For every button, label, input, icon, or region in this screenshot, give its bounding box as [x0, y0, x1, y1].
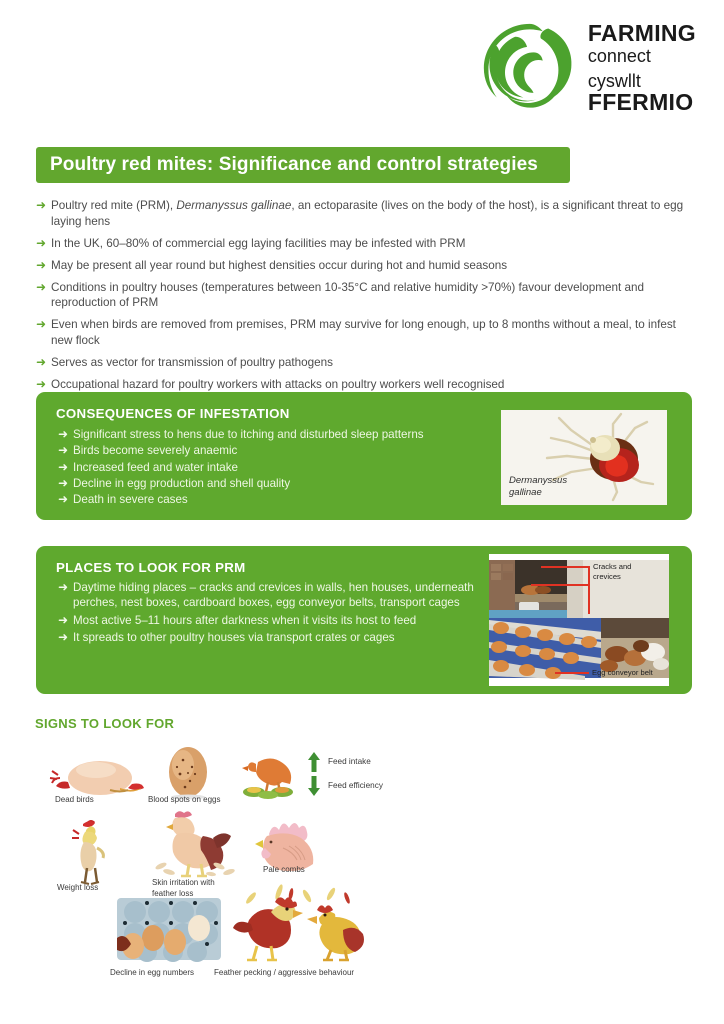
list-item-label: Birds become severely anaemic	[73, 443, 237, 458]
annotation-cracks-line1: Cracks and	[593, 562, 631, 572]
list-item-label: Occupational hazard for poultry workers …	[51, 377, 692, 393]
annotation-label-egg-conveyor-belt: Egg conveyor belt	[592, 668, 653, 678]
intro-bullet-list: ➜ Poultry red mite (PRM), Dermanyssus ga…	[36, 198, 692, 399]
brand-line-connect: connect	[588, 47, 696, 65]
list-item: ➜ Serves as vector for transmission of p…	[36, 355, 692, 371]
sign-caption-decline-egg-numbers: Decline in egg numbers	[110, 968, 194, 979]
list-item: ➜ It spreads to other poultry houses via…	[58, 630, 498, 645]
poster-page: FARMING connect cyswllt FFERMIO Poultry …	[0, 0, 724, 1024]
brand-wordmark: FARMING connect cyswllt FFERMIO	[588, 22, 696, 114]
list-item-label: Poultry red mite (PRM), Dermanyssus gall…	[51, 198, 692, 229]
list-item-label: In the UK, 60–80% of commercial egg layi…	[51, 236, 692, 252]
arrow-bullet-icon: ➜	[36, 280, 51, 296]
brand-header: FARMING connect cyswllt FFERMIO	[482, 22, 696, 114]
list-item-label: Daytime hiding places – cracks and crevi…	[73, 580, 498, 611]
sign-caption-blood-spots: Blood spots on eggs	[148, 795, 221, 806]
signs-section-heading: SIGNS TO LOOK FOR	[35, 716, 174, 731]
farming-connect-swirl-icon	[482, 22, 574, 114]
mite-caption-line1: Dermanyssus	[509, 475, 567, 487]
list-item: ➜ May be present all year round but high…	[36, 258, 692, 274]
arrow-bullet-icon: ➜	[36, 198, 51, 214]
list-item: ➜ Death in severe cases	[58, 492, 488, 507]
list-item: ➜ Increased feed and water intake	[58, 460, 488, 475]
arrow-bullet-icon: ➜	[36, 258, 51, 274]
list-item: ➜ Poultry red mite (PRM), Dermanyssus ga…	[36, 198, 692, 229]
arrow-bullet-icon: ➜	[58, 630, 73, 645]
signs-icon-grid: Dead birds Blood spots on eggs	[35, 740, 455, 990]
arrow-down-icon	[307, 776, 321, 796]
arrow-bullet-icon: ➜	[58, 460, 73, 475]
arrow-bullet-icon: ➜	[58, 427, 73, 442]
feed-efficiency-label: Feed efficiency	[328, 781, 383, 790]
list-item: ➜ Even when birds are removed from premi…	[36, 317, 692, 348]
list-item: ➜ Occupational hazard for poultry worker…	[36, 377, 692, 393]
annotation-line-belt	[555, 672, 589, 674]
arrow-up-icon	[307, 752, 321, 772]
list-item-label: Decline in egg production and shell qual…	[73, 476, 290, 491]
list-item-label: Even when birds are removed from premise…	[51, 317, 692, 348]
list-item-label: May be present all year round but highes…	[51, 258, 692, 274]
sign-caption-feather-loss: Skin irritation with feather loss	[152, 878, 215, 899]
arrow-bullet-icon: ➜	[58, 613, 73, 628]
arrow-bullet-icon: ➜	[36, 317, 51, 333]
sign-caption-pale-combs: Pale combs	[263, 865, 305, 876]
list-item: ➜ In the UK, 60–80% of commercial egg la…	[36, 236, 692, 252]
egg-blood-spots-icon	[159, 740, 217, 798]
list-item: ➜ Conditions in poultry houses (temperat…	[36, 280, 692, 311]
sign-caption-feather-pecking: Feather pecking / aggressive behaviour	[214, 968, 354, 979]
arrow-bullet-icon: ➜	[58, 443, 73, 458]
hen-feeding-icon	[238, 750, 304, 798]
panel-heading: CONSEQUENCES OF INFESTATION	[56, 406, 290, 421]
page-title: Poultry red mites: Significance and cont…	[50, 154, 538, 176]
sign-caption-dead-birds: Dead birds	[55, 795, 94, 806]
poultry-house-collage: Cracks and crevices Egg conveyor belt	[489, 554, 669, 686]
dead-bird-icon	[50, 748, 146, 796]
annotation-label-cracks-and-crevices: Cracks and crevices	[593, 562, 631, 581]
panel-heading: PLACES TO LOOK FOR PRM	[56, 560, 246, 575]
list-item: ➜ Daytime hiding places – cracks and cre…	[58, 580, 498, 611]
annotation-line-cracks-top	[541, 566, 589, 568]
feed-intake-label: Feed intake	[328, 757, 371, 766]
panel-list: ➜ Daytime hiding places – cracks and cre…	[58, 580, 498, 647]
brand-line-farming: FARMING	[588, 22, 696, 45]
list-item-label: Conditions in poultry houses (temperatur…	[51, 280, 692, 311]
list-item: ➜ Decline in egg production and shell qu…	[58, 476, 488, 491]
list-item-label: Significant stress to hens due to itchin…	[73, 427, 424, 442]
sign-caption-feather-loss-line1: Skin irritation with	[152, 878, 215, 889]
brand-line-ffermio: FFERMIO	[588, 91, 696, 114]
weight-loss-hen-icon	[71, 818, 117, 890]
mite-photo: Dermanyssus gallinae	[501, 410, 667, 505]
list-item-label: Death in severe cases	[73, 492, 188, 507]
panel-list: ➜ Significant stress to hens due to itch…	[58, 427, 488, 508]
feather-loss-hen-icon	[147, 808, 237, 876]
list-item-label: Increased feed and water intake	[73, 460, 238, 475]
mite-caption-line2: gallinae	[509, 487, 567, 499]
arrow-bullet-icon: ➜	[36, 355, 51, 371]
sign-caption-weight-loss: Weight loss	[57, 883, 98, 894]
arrow-bullet-icon: ➜	[58, 492, 73, 507]
annotation-cracks-line2: crevices	[593, 572, 631, 582]
egg-tray-icon	[117, 898, 221, 960]
annotation-line-vertical	[588, 566, 590, 614]
list-item: ➜ Most active 5–11 hours after darkness …	[58, 613, 498, 628]
arrow-bullet-icon: ➜	[58, 580, 73, 595]
list-item-label: Most active 5–11 hours after darkness wh…	[73, 613, 416, 628]
list-item: ➜ Birds become severely anaemic	[58, 443, 488, 458]
mite-photo-caption: Dermanyssus gallinae	[509, 475, 567, 499]
list-item: ➜ Significant stress to hens due to itch…	[58, 427, 488, 442]
list-item-label: Serves as vector for transmission of pou…	[51, 355, 692, 371]
brand-line-cyswllt: cyswllt	[588, 72, 696, 90]
arrow-bullet-icon: ➜	[58, 476, 73, 491]
arrow-bullet-icon: ➜	[36, 377, 51, 393]
page-title-bar: Poultry red mites: Significance and cont…	[36, 147, 570, 183]
list-item-label: It spreads to other poultry houses via t…	[73, 630, 395, 645]
fighting-hens-icon	[231, 890, 371, 962]
arrow-bullet-icon: ➜	[36, 236, 51, 252]
annotation-line-cracks-mid	[531, 584, 589, 586]
